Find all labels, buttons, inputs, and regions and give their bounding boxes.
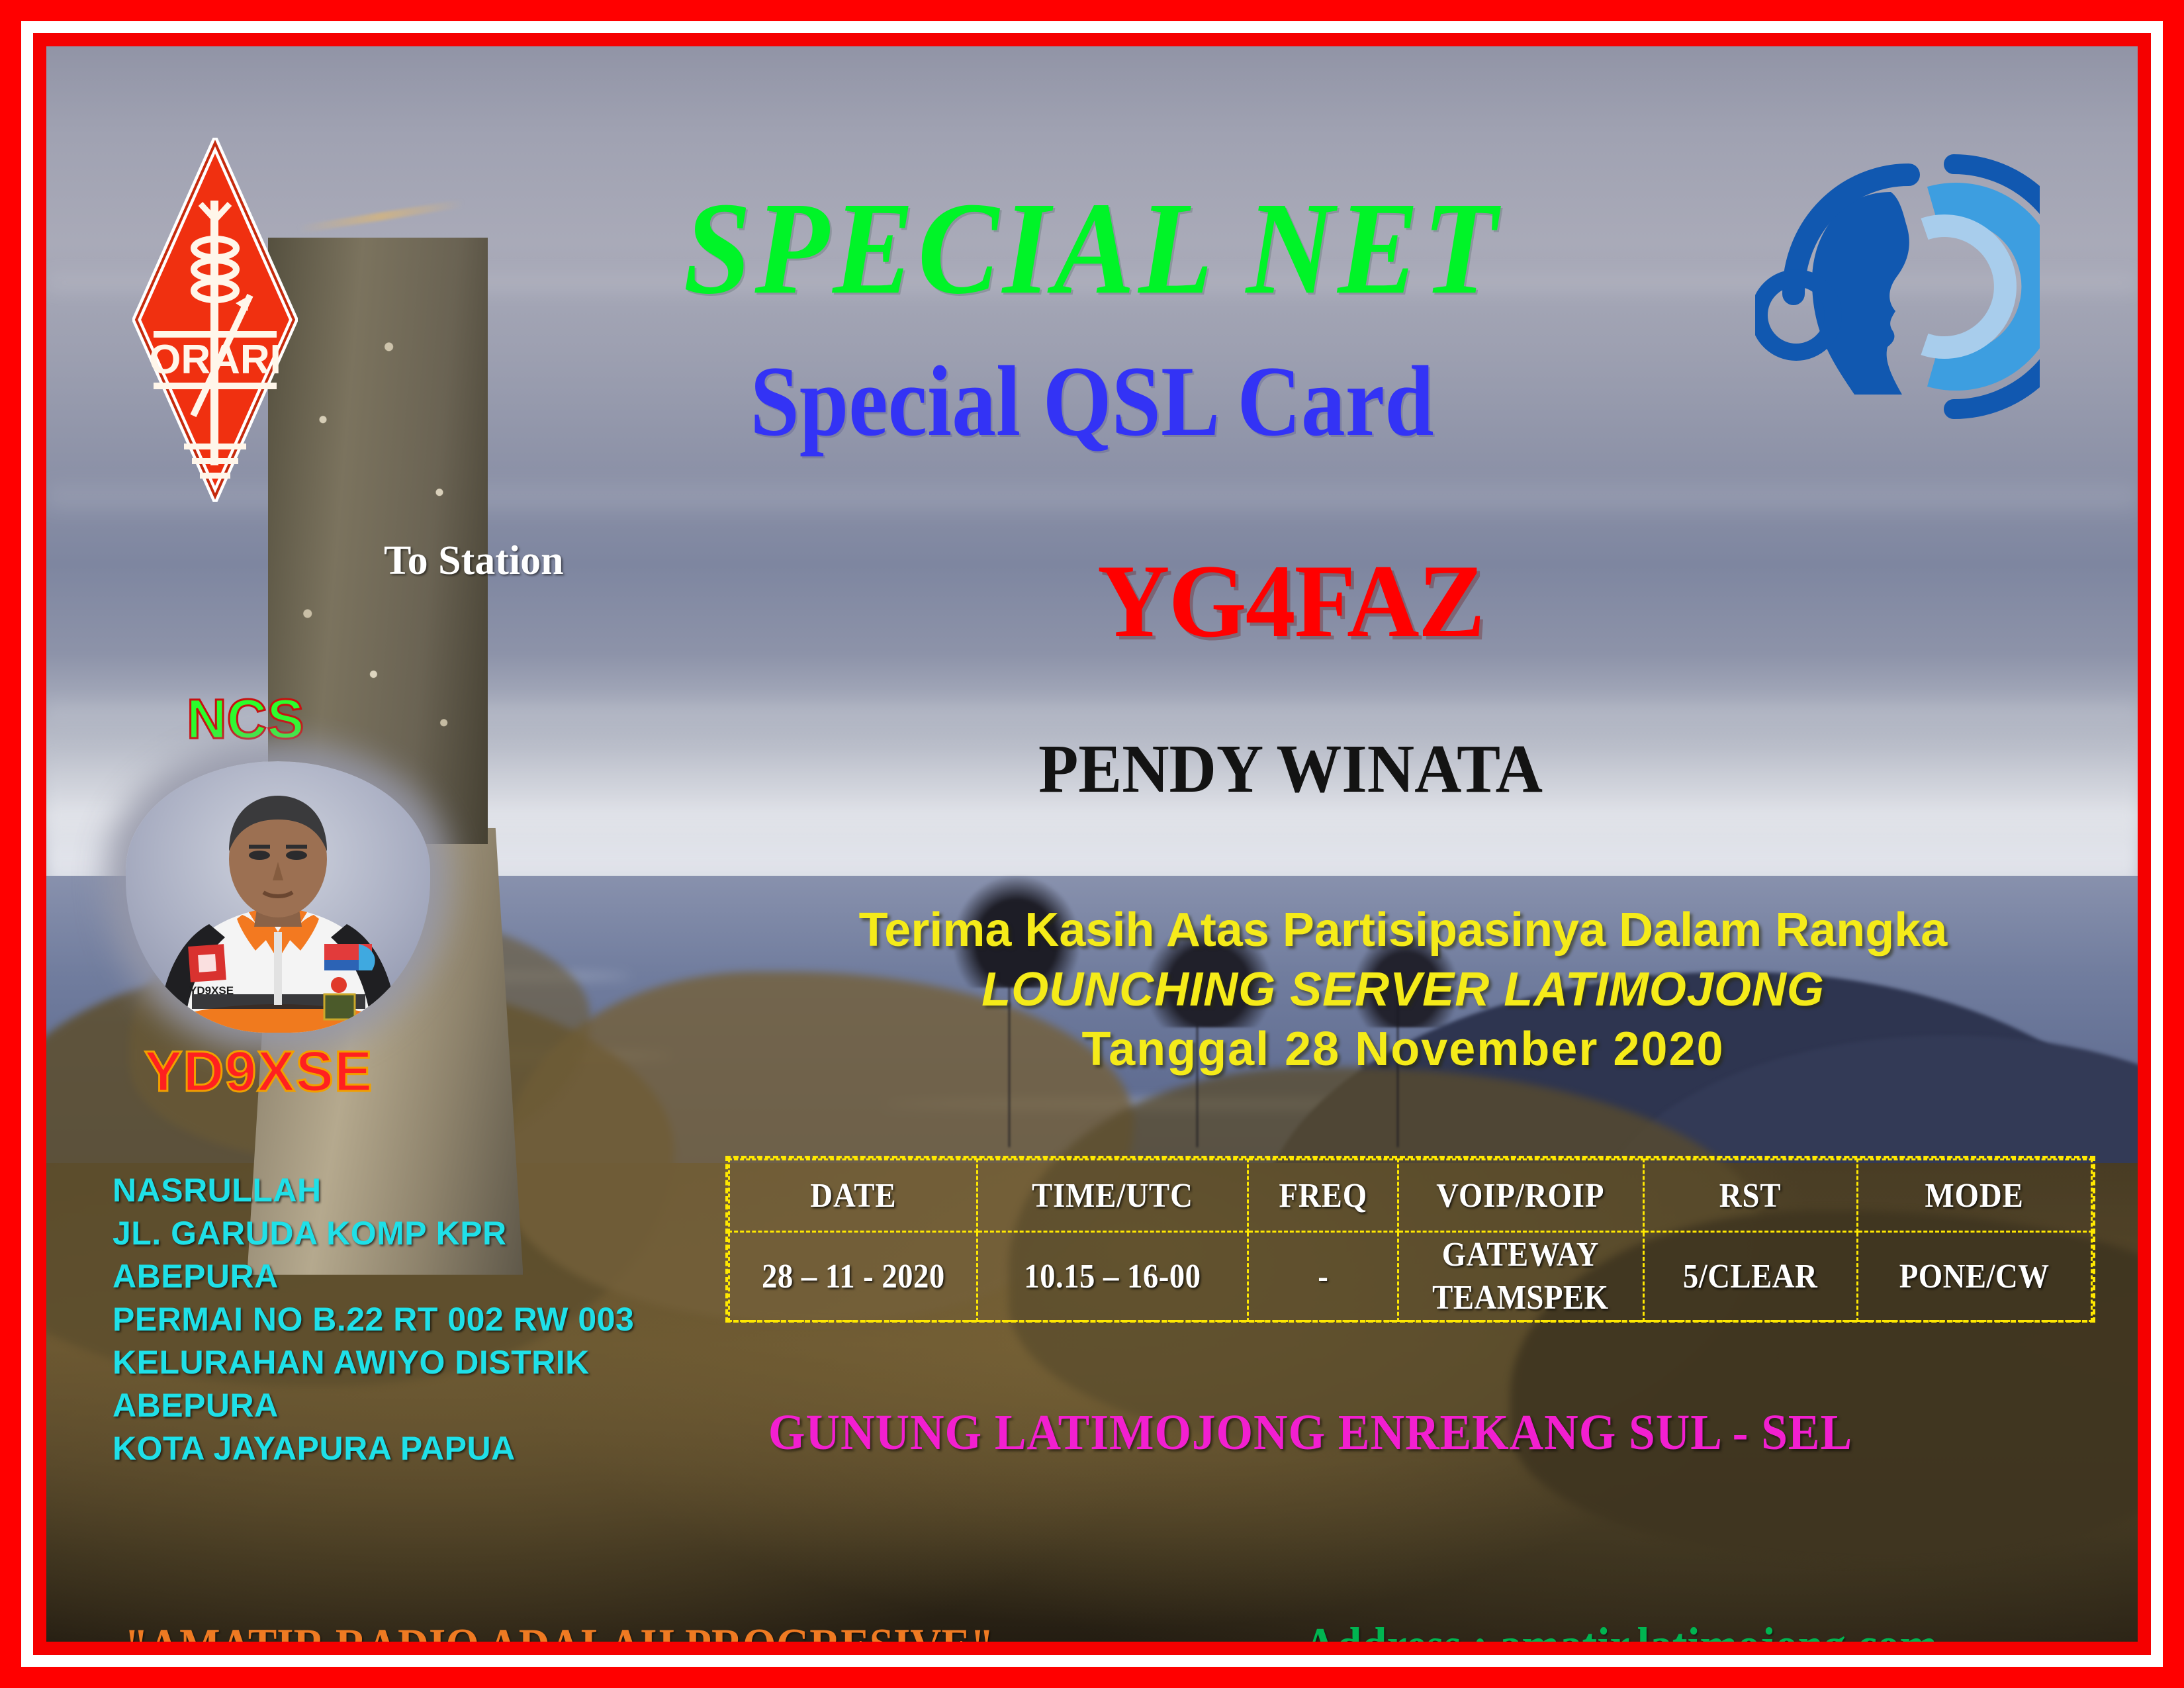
address-line: ABEPURA	[113, 1255, 634, 1298]
ncs-label: NCS	[187, 687, 304, 751]
thanks-message: Terima Kasih Atas Partisipasinya Dalam R…	[774, 900, 2032, 1079]
cell-voip-line-1: GATEWAY	[1412, 1233, 1629, 1276]
ncs-callsign: YD9XSE	[144, 1039, 373, 1105]
cell-rst: 5/CLEAR	[1654, 1232, 1846, 1321]
column-header-freq: FREQ	[1255, 1160, 1390, 1232]
column-header-mode: MODE	[1869, 1160, 2080, 1232]
cell-time: 10.15 – 16-00	[991, 1232, 1235, 1321]
page-subtitle: Special QSL Card	[172, 351, 2013, 451]
shirt-callsign-text: YD9XSE	[189, 984, 234, 997]
location-label: GUNUNG LATIMOJONG ENREKANG SUL - SEL	[719, 1407, 1901, 1458]
ncs-operator-photo: YD9XSE	[126, 761, 430, 1033]
cell-date: 28 – 11 - 2020	[741, 1232, 964, 1321]
address-line: KELURAHAN AWIYO DISTRIK	[113, 1341, 634, 1384]
address-line: KOTA JAYAPURA PAPUA	[113, 1427, 634, 1470]
station-callsign: YG4FAZ	[846, 549, 1735, 654]
thanks-line-1: Terima Kasih Atas Partisipasinya Dalam R…	[774, 900, 2032, 960]
footer-motto: "AMATIR RADIO ADALAH PROGRESIVE"	[124, 1622, 994, 1642]
address-line: JL. GARUDA KOMP KPR	[113, 1212, 634, 1255]
thanks-line-2: LOUNCHING SERVER LATIMOJONG	[774, 960, 2032, 1019]
qso-log-table: DATE TIME/UTC FREQ VOIP/ROIP RST MODE 28…	[725, 1156, 2095, 1323]
address-line: ABEPURA	[113, 1384, 634, 1427]
address-line: PERMAI NO B.22 RT 002 RW 003	[113, 1298, 634, 1341]
column-header-time: TIME/UTC	[991, 1160, 1235, 1232]
table-row: 28 – 11 - 2020 10.15 – 16-00 - GATEWAY T…	[729, 1232, 2092, 1321]
column-header-date: DATE	[741, 1160, 964, 1232]
card-photo-background: ORARI SPECIAL	[46, 46, 2138, 1642]
thanks-line-3: Tanggal 28 November 2020	[774, 1019, 2032, 1079]
ncs-address-block: NASRULLAH JL. GARUDA KOMP KPR ABEPURA PE…	[113, 1169, 634, 1470]
cell-voip: GATEWAY TEAMSPEK	[1410, 1232, 1631, 1321]
page-title: SPECIAL NET	[130, 183, 2054, 315]
cell-mode: PONE/CW	[1869, 1232, 2080, 1321]
column-header-voip: VOIP/ROIP	[1410, 1160, 1631, 1232]
table-header-row: DATE TIME/UTC FREQ VOIP/ROIP RST MODE	[729, 1160, 2092, 1232]
qsl-card: ORARI SPECIAL	[0, 0, 2184, 1688]
cell-freq: -	[1255, 1232, 1390, 1321]
operator-name: PENDY WINATA	[850, 735, 1731, 804]
column-header-rst: RST	[1654, 1160, 1846, 1232]
to-station-label: To Station	[384, 538, 564, 585]
address-line: NASRULLAH	[113, 1169, 634, 1212]
footer-address: Address : amatir.latimojong.com	[1304, 1620, 1938, 1642]
cell-voip-line-2: TEAMSPEK	[1412, 1276, 1629, 1319]
